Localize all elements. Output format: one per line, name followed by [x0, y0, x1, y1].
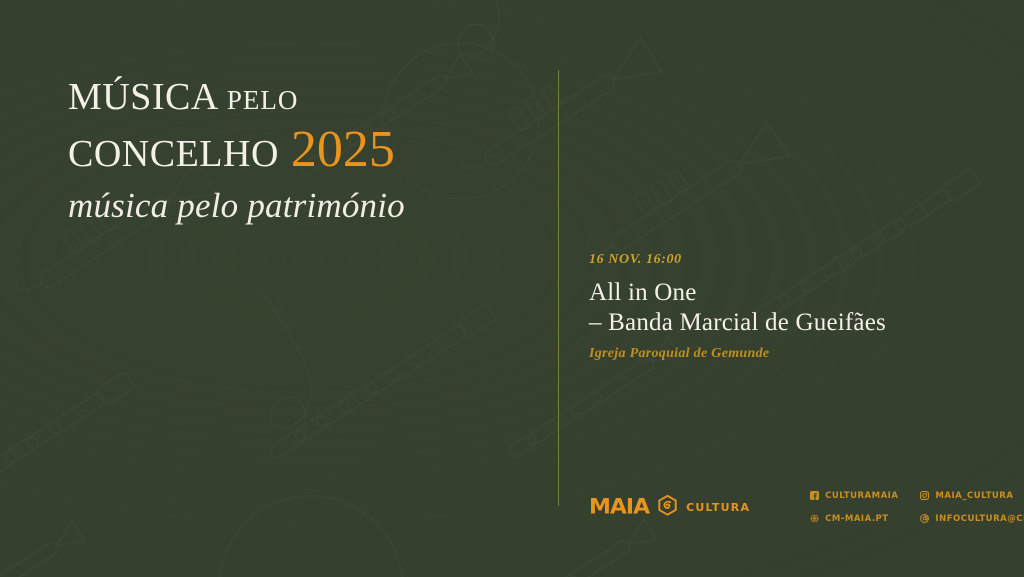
title-word-musica: Música [68, 61, 219, 121]
maia-cultura-logo: MAIA CULTURA [589, 495, 750, 521]
globe-icon [810, 510, 819, 528]
maia-hexagon-icon [658, 495, 677, 521]
social-link-instagram[interactable]: MAIA_CULTURA [920, 487, 1024, 505]
poster-subtitle: música pelo património [68, 188, 538, 225]
title-line-two: Concelho2025 [68, 122, 538, 176]
maia-wordmark: MAIA [589, 497, 649, 518]
email-at-icon [920, 510, 929, 528]
instagram-icon [920, 487, 929, 505]
vertical-divider [558, 70, 559, 506]
facebook-handle: CULTURAMAIA [825, 492, 898, 501]
title-word-concelho: Concelho [68, 118, 279, 178]
facebook-icon [810, 487, 819, 505]
poster-title-block: Músicapelo Concelho2025 música pelo patr… [68, 66, 538, 225]
title-line-one: Músicapelo [68, 66, 538, 118]
social-link-email[interactable]: INFOCULTURA@CM-MAIA.PT [920, 510, 1024, 528]
event-name-line-one: All in One [589, 278, 989, 308]
email-address: INFOCULTURA@CM-MAIA.PT [935, 515, 1024, 524]
website-url: CM-MAIA.PT [825, 515, 888, 524]
event-details-block: 16 NOV. 16:00 All in One – Banda Marcial… [589, 252, 989, 362]
social-links-grid: CULTURAMAIA MAIA_CULTURA [810, 487, 1024, 528]
title-year: 2025 [291, 121, 395, 178]
poster-canvas: Músicapelo Concelho2025 música pelo patr… [0, 0, 1024, 577]
poster-footer: MAIA CULTURA CULTURAMAIA [589, 487, 1024, 528]
social-link-facebook[interactable]: CULTURAMAIA [810, 487, 898, 505]
event-date: 16 NOV. 16:00 [589, 252, 989, 268]
cultura-wordmark: CULTURA [686, 502, 750, 513]
instagram-handle: MAIA_CULTURA [935, 492, 1013, 501]
event-name: All in One – Banda Marcial de Gueifães [589, 278, 989, 337]
event-name-line-two: – Banda Marcial de Gueifães [589, 308, 989, 338]
social-link-website[interactable]: CM-MAIA.PT [810, 510, 898, 528]
event-venue: Igreja Paroquial de Gemunde [589, 346, 989, 362]
title-word-pelo: pelo [227, 76, 299, 118]
